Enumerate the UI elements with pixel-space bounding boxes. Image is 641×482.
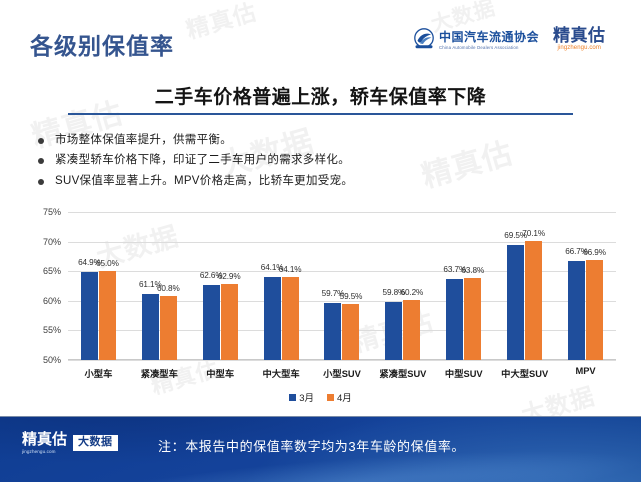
x-axis-category-label: MPV <box>575 366 595 376</box>
x-axis-category-label: 小型车 <box>84 366 112 380</box>
jingzhengu-logo: 精真估 jingzhengu.com <box>553 27 606 51</box>
list-item: SUV保值率显著上升。MPV价格走高，比轿车更加受宠。 <box>38 174 598 188</box>
cada-name-cn: 中国汽车流通协会 <box>439 30 539 44</box>
cada-logo-text: 中国汽车流通协会 China Automobile Dealers Associ… <box>439 28 539 51</box>
bar[interactable]: 59.7% <box>324 303 341 360</box>
bullet-text: 市场整体保值率提升，供需平衡。 <box>55 133 232 147</box>
x-axis-category-label: 中大型车 <box>262 366 299 380</box>
bar[interactable]: 64.1% <box>282 277 299 360</box>
bar-group: 61.1%60.8%紧凑型车 <box>129 212 190 360</box>
x-axis-category-label: 中型SUV <box>445 366 483 380</box>
bar[interactable]: 62.6% <box>203 285 220 360</box>
bar-group: 64.9%65.0%小型车 <box>68 212 129 360</box>
footer-logo-en: jingzhengu.com <box>22 449 67 454</box>
bar[interactable]: 59.5% <box>342 304 359 360</box>
legend-swatch <box>289 394 296 401</box>
bullet-text: SUV保值率显著上升。MPV价格走高，比轿车更加受宠。 <box>55 174 353 188</box>
legend-swatch <box>327 394 334 401</box>
x-axis-category-label: 中大型SUV <box>501 366 548 380</box>
bar[interactable]: 59.8% <box>385 302 402 360</box>
bar[interactable]: 62.9% <box>221 284 238 360</box>
bar-value-label: 65.0% <box>96 259 119 268</box>
header: 各级别保值率 中国汽车流通协会 China Automobile Dealers… <box>0 0 641 70</box>
jingzhengu-name-en: jingzhengu.com <box>553 45 606 51</box>
bullet-list: 市场整体保值率提升，供需平衡。 紧凑型轿车价格下降，印证了二手车用户的需求多样化… <box>38 133 598 194</box>
bar-value-label: 59.5% <box>340 292 363 301</box>
footer-logo-text: 精真估 jingzhengu.com <box>22 432 67 454</box>
cada-name-en: China Automobile Dealers Association <box>439 46 541 51</box>
page-title: 各级别保值率 <box>30 27 174 61</box>
bar-value-label: 70.1% <box>522 229 545 238</box>
bar[interactable]: 63.7% <box>446 279 463 360</box>
list-item: 紧凑型轿车价格下降，印证了二手车用户的需求多样化。 <box>38 153 598 167</box>
x-axis-category-label: 紧凑型车 <box>141 366 178 380</box>
bar-value-label: 60.2% <box>401 288 424 297</box>
x-axis-category-label: 紧凑型SUV <box>379 366 426 380</box>
bullet-dot-icon <box>38 138 44 144</box>
bar-group: 64.1%64.1%中大型车 <box>251 212 312 360</box>
y-axis-tick-label: 75% <box>43 207 61 217</box>
bar-group: 66.7%66.9%MPV <box>555 212 616 360</box>
y-axis-tick-label: 55% <box>43 325 61 335</box>
bar-group: 69.5%70.1%中大型SUV <box>494 212 555 360</box>
legend-item[interactable]: 4月 <box>327 390 352 404</box>
bar-value-label: 63.8% <box>461 266 484 275</box>
bar[interactable]: 66.7% <box>568 261 585 360</box>
y-axis-tick-label: 70% <box>43 237 61 247</box>
footer-note: 注：本报告中的保值率数字均为3年车龄的保值率。 <box>158 436 465 455</box>
bar-value-label: 66.9% <box>583 248 606 257</box>
bar[interactable]: 63.8% <box>464 278 481 360</box>
legend-item[interactable]: 3月 <box>289 390 314 404</box>
bar[interactable]: 60.2% <box>403 300 420 360</box>
jingzhengu-name-cn: 精真估 <box>553 27 606 44</box>
cada-eagle-icon <box>413 28 435 50</box>
bar[interactable]: 65.0% <box>99 271 116 360</box>
subtitle: 二手车价格普遍上涨，轿车保值率下降 <box>155 82 487 114</box>
chart-plot-area: 50%55%60%65%70%75% 64.9%65.0%小型车61.1%60.… <box>68 212 616 360</box>
bar-group: 59.7%59.5%小型SUV <box>312 212 373 360</box>
bullet-text: 紧凑型轿车价格下降，印证了二手车用户的需求多样化。 <box>55 153 350 167</box>
bar[interactable]: 64.1% <box>264 277 281 360</box>
y-axis-tick-label: 50% <box>43 355 61 365</box>
bar-group: 63.7%63.8%中型SUV <box>433 212 494 360</box>
footer-logo-cn: 精真估 <box>22 432 67 447</box>
bar[interactable]: 60.8% <box>160 296 177 360</box>
bar-value-label: 62.9% <box>218 272 241 281</box>
x-axis-category-label: 中型车 <box>206 366 234 380</box>
x-axis-category-label: 小型SUV <box>323 366 361 380</box>
bigdata-badge: 大数据 <box>73 435 118 451</box>
footer-logo: 精真估 jingzhengu.com 大数据 <box>22 432 118 454</box>
bar[interactable]: 69.5% <box>507 245 524 360</box>
bar[interactable]: 66.9% <box>586 260 603 360</box>
bar-value-label: 64.1% <box>279 265 302 274</box>
subtitle-container: 二手车价格普遍上涨，轿车保值率下降 <box>0 82 641 114</box>
slide-page: 精真估 大数据 精真估 大数据 精真估 大数据 精真估 大数据 精真估 各级别保… <box>0 0 641 482</box>
y-axis-tick-label: 60% <box>43 296 61 306</box>
bullet-dot-icon <box>38 179 44 185</box>
bar[interactable]: 70.1% <box>525 241 542 360</box>
list-item: 市场整体保值率提升，供需平衡。 <box>38 133 598 147</box>
chart-legend: 3月4月 <box>0 390 641 404</box>
subtitle-divider <box>68 113 573 115</box>
bar-value-label: 60.8% <box>157 284 180 293</box>
bar-group: 59.8%60.2%紧凑型SUV <box>372 212 433 360</box>
y-axis-tick-label: 65% <box>43 266 61 276</box>
bar-group: 62.6%62.9%中型车 <box>190 212 251 360</box>
gridline <box>68 360 616 361</box>
legend-label: 3月 <box>299 390 314 404</box>
bullet-dot-icon <box>38 158 44 164</box>
bar-chart: 50%55%60%65%70%75% 64.9%65.0%小型车61.1%60.… <box>28 206 620 406</box>
bar[interactable]: 64.9% <box>81 272 98 360</box>
bar[interactable]: 61.1% <box>142 294 159 360</box>
cada-logo: 中国汽车流通协会 China Automobile Dealers Associ… <box>413 28 539 51</box>
legend-label: 4月 <box>337 390 352 404</box>
